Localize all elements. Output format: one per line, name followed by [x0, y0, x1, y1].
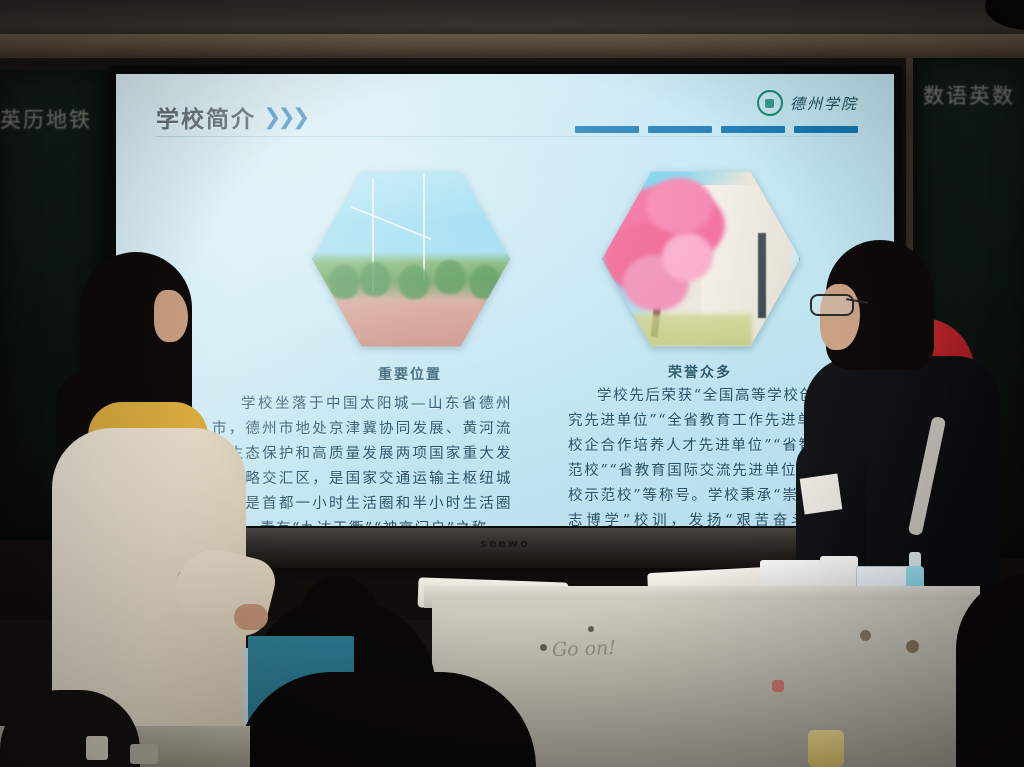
front-desk-object-2	[130, 744, 158, 764]
accent-dash	[648, 126, 712, 133]
university-logo: 德州学院	[757, 90, 858, 116]
desk-hole	[906, 640, 919, 653]
face	[154, 290, 188, 342]
blackboard-left-chalk-text: 英历地铁	[0, 104, 92, 134]
desk-mark	[588, 626, 594, 632]
caption-left: 重要位置	[312, 364, 508, 384]
ceiling-beam	[0, 34, 1024, 60]
desk-mark	[540, 644, 547, 651]
logo-text: 德州学院	[790, 93, 858, 114]
foreground-student-front	[236, 672, 536, 767]
accent-dash	[575, 126, 639, 133]
blackboard-right-chalk-text: 数语英数	[923, 80, 1015, 110]
display-brand-label: seewo	[480, 537, 529, 550]
hex-photo-right-wrap	[602, 166, 798, 350]
title-divider	[156, 136, 856, 137]
desk-cup	[808, 730, 844, 767]
blossom-building-photo	[602, 166, 800, 352]
presenter-left	[36, 252, 246, 722]
page-title: 学校简介	[156, 100, 256, 134]
caption-right: 荣誉众多	[602, 362, 798, 382]
hex-photo-left-wrap	[312, 166, 508, 350]
front-desk-object-1	[86, 736, 108, 760]
ceiling-speaker-icon	[985, 0, 1024, 30]
held-paper	[800, 474, 843, 515]
body-text-left: 学校坐落于中国太阳城—山东省德州市，德州市地处京津冀协同发展、黄河流域生态保护和…	[212, 392, 512, 526]
desk-hole	[860, 630, 871, 641]
campus-track-photo	[312, 166, 510, 352]
desk-small-object	[772, 680, 784, 692]
classroom-presentation-scene: 英历地铁 数语英数 学校简介 ❯❯❯ 德州学院	[0, 0, 1024, 767]
circle-emblem-icon	[757, 90, 783, 116]
accent-dash	[794, 126, 858, 133]
accent-dash	[721, 126, 785, 133]
slide-title-group: 学校简介 ❯❯❯	[156, 100, 306, 134]
hand	[234, 604, 268, 630]
accent-dashes	[575, 126, 858, 133]
desk-pencil-note: Go on!	[552, 637, 617, 661]
chevron-right-icon: ❯❯❯	[263, 105, 306, 130]
